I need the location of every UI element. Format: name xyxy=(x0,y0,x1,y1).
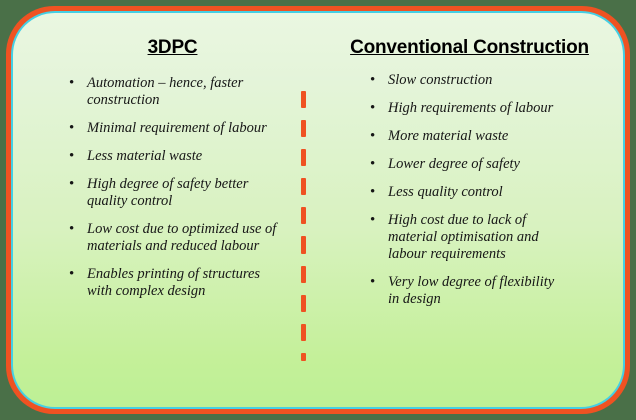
heading-3dpc: 3DPC xyxy=(43,37,302,59)
list-item: • High cost due to lack of material opti… xyxy=(370,212,568,263)
list-item: • More material waste xyxy=(370,128,568,145)
list-item: • Lower degree of safety xyxy=(370,156,568,173)
list-item-text: High cost due to lack of material optimi… xyxy=(388,212,539,262)
divider-dash xyxy=(301,324,306,341)
column-conventional-construction: Conventional Construction • Slow constru… xyxy=(302,13,623,407)
list-item: • High degree of safety better quality c… xyxy=(69,176,283,210)
list-item-text: Minimal requirement of labour xyxy=(87,120,267,136)
list-item: • Slow construction xyxy=(370,72,568,89)
list-item-text: Low cost due to optimized use of materia… xyxy=(87,221,276,254)
bullet-icon: • xyxy=(370,212,375,229)
dashed-divider xyxy=(301,91,306,373)
list-item: • Low cost due to optimized use of mater… xyxy=(69,221,283,255)
divider-dash xyxy=(301,236,306,253)
bullet-icon: • xyxy=(69,266,74,283)
list-item: • Enables printing of structures with co… xyxy=(69,266,283,300)
list-item-text: Very low degree of flexibility in design xyxy=(388,274,554,307)
bullet-icon: • xyxy=(69,120,74,137)
list-item-text: Enables printing of structures with comp… xyxy=(87,266,260,299)
list-item-text: Less material waste xyxy=(87,148,202,164)
list-item-text: More material waste xyxy=(388,128,508,144)
bullet-icon: • xyxy=(69,221,74,238)
bullet-icon: • xyxy=(370,72,375,89)
comparison-card: 3DPC • Automation – hence, faster constr… xyxy=(6,6,630,414)
divider-dash xyxy=(301,120,306,137)
divider-dash xyxy=(301,295,306,312)
divider-dash xyxy=(301,178,306,195)
list-item-text: Less quality control xyxy=(388,184,503,200)
bullet-icon: • xyxy=(370,156,375,173)
list-item: • Very low degree of flexibility in desi… xyxy=(370,274,568,308)
divider-dash xyxy=(301,353,306,361)
list-item: • Less quality control xyxy=(370,184,568,201)
list-item: • Minimal requirement of labour xyxy=(69,120,283,137)
divider-dash xyxy=(301,91,306,108)
list-item: • Automation – hence, faster constructio… xyxy=(69,75,283,109)
column-3dpc: 3DPC • Automation – hence, faster constr… xyxy=(13,13,302,407)
bullet-icon: • xyxy=(69,148,74,165)
card-inner-accent-line: 3DPC • Automation – hence, faster constr… xyxy=(11,11,625,409)
bullet-icon: • xyxy=(370,128,375,145)
divider-dash xyxy=(301,149,306,166)
bullet-list-3dpc: • Automation – hence, faster constructio… xyxy=(69,75,302,300)
list-item: • Less material waste xyxy=(69,148,283,165)
bullet-icon: • xyxy=(370,184,375,201)
bullet-icon: • xyxy=(370,274,375,291)
list-item-text: High degree of safety better quality con… xyxy=(87,176,248,209)
bullet-icon: • xyxy=(69,75,74,92)
list-item-text: Automation – hence, faster construction xyxy=(87,75,243,108)
list-item-text: Lower degree of safety xyxy=(388,156,520,172)
bullet-list-conventional-construction: • Slow construction • High requirements … xyxy=(370,72,623,308)
divider-dash xyxy=(301,207,306,224)
list-item-text: Slow construction xyxy=(388,72,492,88)
list-item: • High requirements of labour xyxy=(370,100,568,117)
heading-conventional-construction: Conventional Construction xyxy=(316,37,623,59)
comparison-columns: 3DPC • Automation – hence, faster constr… xyxy=(13,13,623,407)
card-face: 3DPC • Automation – hence, faster constr… xyxy=(13,13,623,407)
list-item-text: High requirements of labour xyxy=(388,100,553,116)
divider-dash xyxy=(301,266,306,283)
bullet-icon: • xyxy=(69,176,74,193)
bullet-icon: • xyxy=(370,100,375,117)
